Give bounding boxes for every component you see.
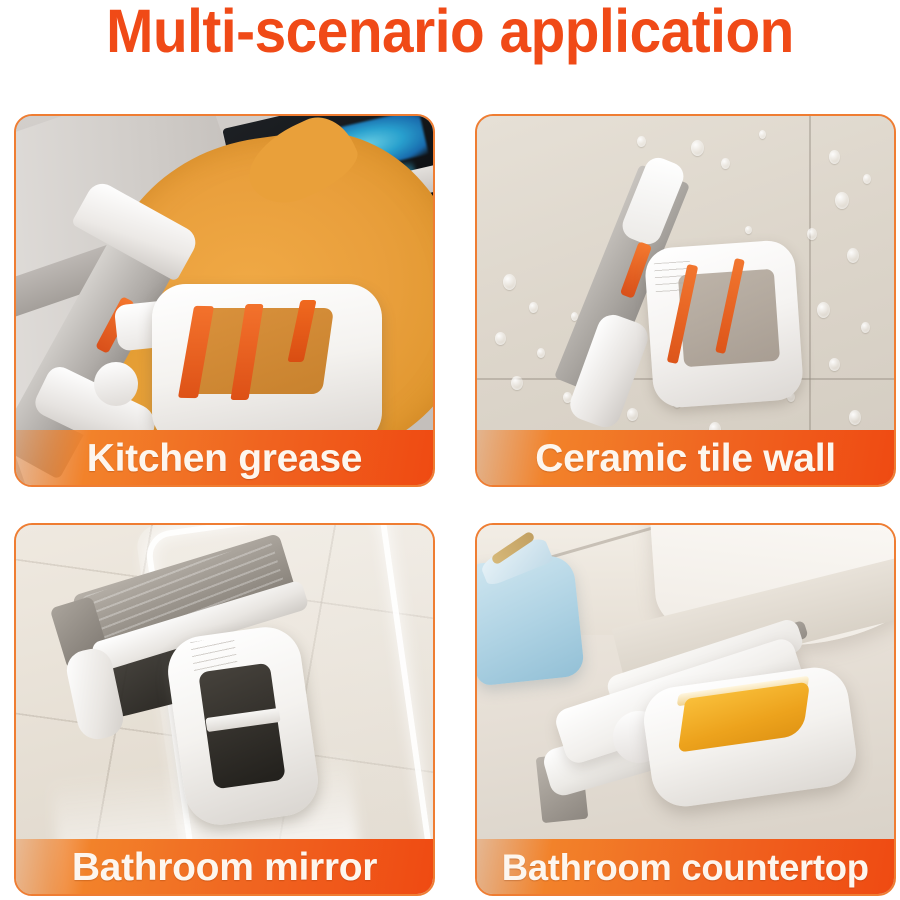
water-droplet <box>759 130 766 139</box>
panel-label-text: Bathroom countertop <box>502 848 869 887</box>
squeegee-pivot <box>94 362 138 406</box>
squeegee-tool <box>573 158 853 438</box>
panel-label-text: Ceramic tile wall <box>535 439 836 478</box>
scenario-grid: Kitchen grease <box>14 114 896 896</box>
squeegee-grip-ribs <box>190 636 238 672</box>
panel-label-banner-bathroom-countertop: Bathroom countertop <box>476 839 895 895</box>
water-droplet <box>691 140 704 156</box>
panel-label-banner-bathroom-mirror: Bathroom mirror <box>15 839 434 895</box>
water-droplet <box>511 376 523 390</box>
water-droplet <box>529 302 538 313</box>
water-droplet <box>863 174 871 184</box>
panel-label-banner-ceramic-tile-wall: Ceramic tile wall <box>476 430 895 486</box>
squeegee-tool <box>501 585 851 815</box>
panel-label-text: Bathroom mirror <box>72 848 377 887</box>
water-droplet <box>537 348 545 358</box>
water-droplet <box>861 322 870 333</box>
scenario-panel-kitchen-grease[interactable]: Kitchen grease <box>14 114 435 487</box>
water-droplet <box>637 136 646 147</box>
panel-label-banner-kitchen-grease: Kitchen grease <box>15 430 434 486</box>
page-title: Multi-scenario application <box>32 0 869 64</box>
water-droplet <box>495 332 506 345</box>
water-droplet <box>503 274 516 290</box>
scenario-panel-ceramic-tile-wall[interactable]: Ceramic tile wall <box>475 114 896 487</box>
scenario-panel-bathroom-mirror[interactable]: Bathroom mirror <box>14 523 435 896</box>
panel-label-text: Kitchen grease <box>87 439 362 478</box>
scenario-panel-bathroom-countertop[interactable]: Bathroom countertop <box>475 523 896 896</box>
squeegee-tool <box>62 553 362 813</box>
